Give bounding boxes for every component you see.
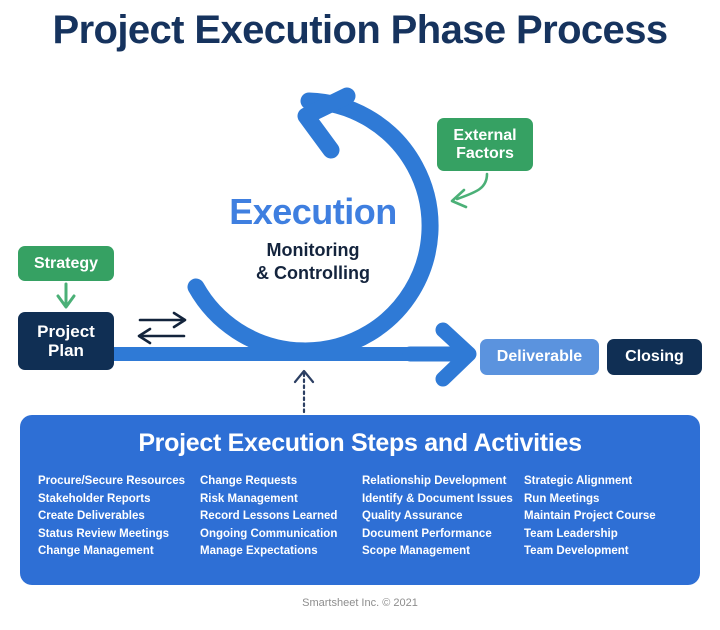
activity-item: Manage Expectations [200,543,362,561]
activity-column: Relationship DevelopmentIdentify & Docum… [362,473,524,561]
activity-item: Team Leadership [524,526,686,544]
external-factors-box[interactable]: External Factors [437,118,533,171]
project-plan-box[interactable]: Project Plan [18,312,114,370]
dotted-arrow-up-icon [295,371,313,412]
page-title: Project Execution Phase Process [0,8,720,52]
activity-item: Stakeholder Reports [38,491,200,509]
activity-item: Scope Management [362,543,524,561]
activity-item: Maintain Project Course [524,508,686,526]
cycle-title: Execution [173,191,453,233]
activity-item: Run Meetings [524,491,686,509]
activity-item: Relationship Development [362,473,524,491]
cycle-subtitle: Monitoring & Controlling [173,239,453,286]
project-plan-line-1: Project [37,322,95,341]
activity-item: Risk Management [200,491,362,509]
cycle-subtitle-line-2: & Controlling [173,262,453,285]
activities-heading: Project Execution Steps and Activities [20,429,700,458]
activity-item: Identify & Document Issues [362,491,524,509]
cycle-subtitle-line-1: Monitoring [173,239,453,262]
closing-box[interactable]: Closing [607,339,702,375]
arrow-down-icon [58,284,74,307]
curved-arrow-down-left-icon [452,174,487,207]
activity-item: Record Lessons Learned [200,508,362,526]
bidirectional-arrows-icon [139,313,185,343]
activity-item: Status Review Meetings [38,526,200,544]
activity-item: Ongoing Communication [200,526,362,544]
arrow-right-icon [410,330,469,379]
project-plan-line-2: Plan [37,341,95,360]
footer-credit: Smartsheet Inc. © 2021 [0,597,720,609]
activity-column: Strategic AlignmentRun MeetingsMaintain … [524,473,686,561]
activities-columns: Procure/Secure ResourcesStakeholder Repo… [38,473,686,561]
activity-item: Strategic Alignment [524,473,686,491]
activity-column: Change RequestsRisk ManagementRecord Les… [200,473,362,561]
activity-item: Document Performance [362,526,524,544]
activity-item: Change Management [38,543,200,561]
external-factors-line-1: External [453,127,516,145]
activity-item: Change Requests [200,473,362,491]
activity-item: Team Development [524,543,686,561]
activity-column: Procure/Secure ResourcesStakeholder Repo… [38,473,200,561]
activity-item: Procure/Secure Resources [38,473,200,491]
activity-item: Create Deliverables [38,508,200,526]
deliverable-box[interactable]: Deliverable [480,339,599,375]
activities-panel: Project Execution Steps and Activities P… [20,415,700,585]
activity-item: Quality Assurance [362,508,524,526]
external-factors-line-2: Factors [453,145,516,163]
strategy-box[interactable]: Strategy [18,246,114,281]
